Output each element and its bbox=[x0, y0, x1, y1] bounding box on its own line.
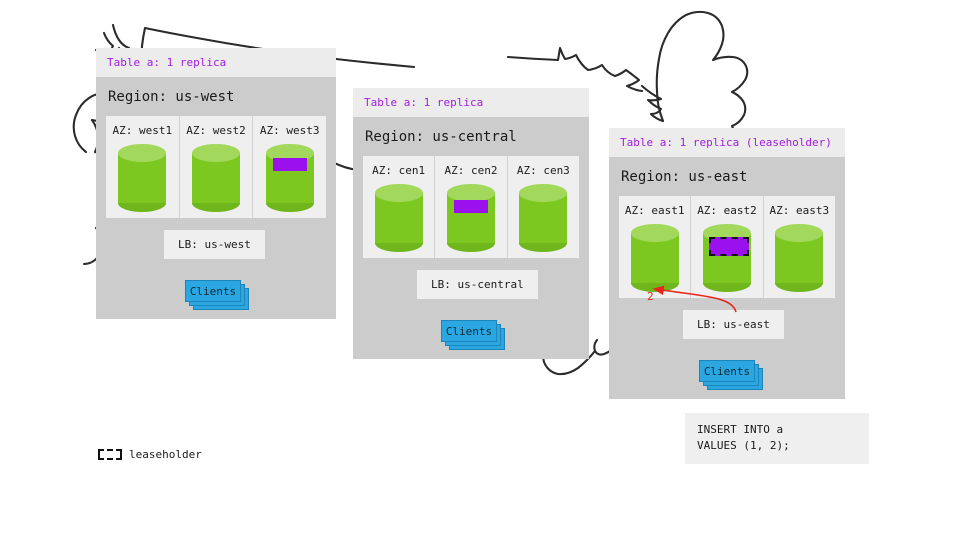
az-east1[interactable]: AZ: east1 bbox=[619, 196, 691, 298]
node-cylinder-west2[interactable] bbox=[192, 144, 240, 212]
az-east3[interactable]: AZ: east3 bbox=[764, 196, 835, 298]
az-cen3[interactable]: AZ: cen3 bbox=[508, 156, 579, 258]
cylinder-top bbox=[375, 184, 423, 202]
az-row-us-central: AZ: cen1 AZ: cen2 bbox=[363, 156, 579, 258]
region-header-us-central: Table a: 1 replica bbox=[353, 88, 589, 117]
replica-marker-west3 bbox=[273, 158, 307, 171]
az-label-west1: AZ: west1 bbox=[106, 124, 179, 137]
legend-label: leaseholder bbox=[129, 448, 202, 461]
load-balancer-us-central[interactable]: LB: us-central bbox=[417, 270, 538, 299]
clients-label: Clients bbox=[441, 320, 497, 342]
az-west3[interactable]: AZ: west3 bbox=[253, 116, 326, 218]
az-label-east3: AZ: east3 bbox=[764, 204, 835, 217]
cylinder-top bbox=[118, 144, 166, 162]
node-cylinder-cen3[interactable] bbox=[519, 184, 567, 252]
diagram-canvas: Table a: 1 replica Region: us-west AZ: w… bbox=[0, 0, 960, 540]
az-west2[interactable]: AZ: west2 bbox=[180, 116, 254, 218]
clients-stack-us-east[interactable]: Clients bbox=[699, 360, 765, 392]
clients-stack-us-central[interactable]: Clients bbox=[441, 320, 507, 352]
az-label-cen2: AZ: cen2 bbox=[435, 164, 506, 177]
region-panel-us-west: Table a: 1 replica Region: us-west AZ: w… bbox=[96, 48, 336, 319]
az-label-west2: AZ: west2 bbox=[180, 124, 253, 137]
node-cylinder-cen1[interactable] bbox=[375, 184, 423, 252]
region-header-us-east: Table a: 1 replica (leaseholder) bbox=[609, 128, 845, 157]
az-label-cen1: AZ: cen1 bbox=[363, 164, 434, 177]
legend-leaseholder: leaseholder bbox=[98, 448, 202, 461]
sql-statement-box: INSERT INTO a VALUES (1, 2); bbox=[685, 413, 869, 464]
load-balancer-us-west[interactable]: LB: us-west bbox=[164, 230, 265, 259]
node-cylinder-east3[interactable] bbox=[775, 224, 823, 292]
region-header-us-west: Table a: 1 replica bbox=[96, 48, 336, 77]
az-label-east2: AZ: east2 bbox=[691, 204, 762, 217]
leaseholder-replica-marker-east2 bbox=[709, 237, 749, 256]
az-label-east1: AZ: east1 bbox=[619, 204, 690, 217]
az-row-us-west: AZ: west1 AZ: west2 AZ bbox=[106, 116, 326, 218]
region-title-us-east: Region: us-east bbox=[619, 157, 835, 196]
dashed-rect-swatch-icon bbox=[98, 449, 122, 460]
az-east2[interactable]: AZ: east2 bbox=[691, 196, 763, 298]
az-row-us-east: AZ: east1 AZ: east2 bbox=[619, 196, 835, 298]
az-label-west3: AZ: west3 bbox=[253, 124, 326, 137]
load-balancer-us-east[interactable]: LB: us-east bbox=[683, 310, 784, 339]
region-title-us-central: Region: us-central bbox=[363, 117, 579, 156]
cylinder-top bbox=[519, 184, 567, 202]
replica-marker-cen2 bbox=[454, 200, 488, 213]
node-cylinder-west1[interactable] bbox=[118, 144, 166, 212]
node-cylinder-east1[interactable] bbox=[631, 224, 679, 292]
node-cylinder-east2[interactable] bbox=[703, 224, 751, 292]
clients-label: Clients bbox=[185, 280, 241, 302]
node-cylinder-west3[interactable] bbox=[266, 144, 314, 212]
az-west1[interactable]: AZ: west1 bbox=[106, 116, 180, 218]
az-label-cen3: AZ: cen3 bbox=[508, 164, 579, 177]
clients-stack-us-west[interactable]: Clients bbox=[185, 280, 251, 312]
region-title-us-west: Region: us-west bbox=[106, 77, 326, 116]
cylinder-top bbox=[631, 224, 679, 242]
region-panel-us-central: Table a: 1 replica Region: us-central AZ… bbox=[353, 88, 589, 359]
arrow-step-label-2: 2 bbox=[647, 290, 654, 303]
clients-label: Clients bbox=[699, 360, 755, 382]
node-cylinder-cen2[interactable] bbox=[447, 184, 495, 252]
az-cen1[interactable]: AZ: cen1 bbox=[363, 156, 435, 258]
cylinder-top bbox=[775, 224, 823, 242]
region-panel-us-east: Table a: 1 replica (leaseholder) Region:… bbox=[609, 128, 845, 399]
az-cen2[interactable]: AZ: cen2 bbox=[435, 156, 507, 258]
cylinder-top bbox=[192, 144, 240, 162]
